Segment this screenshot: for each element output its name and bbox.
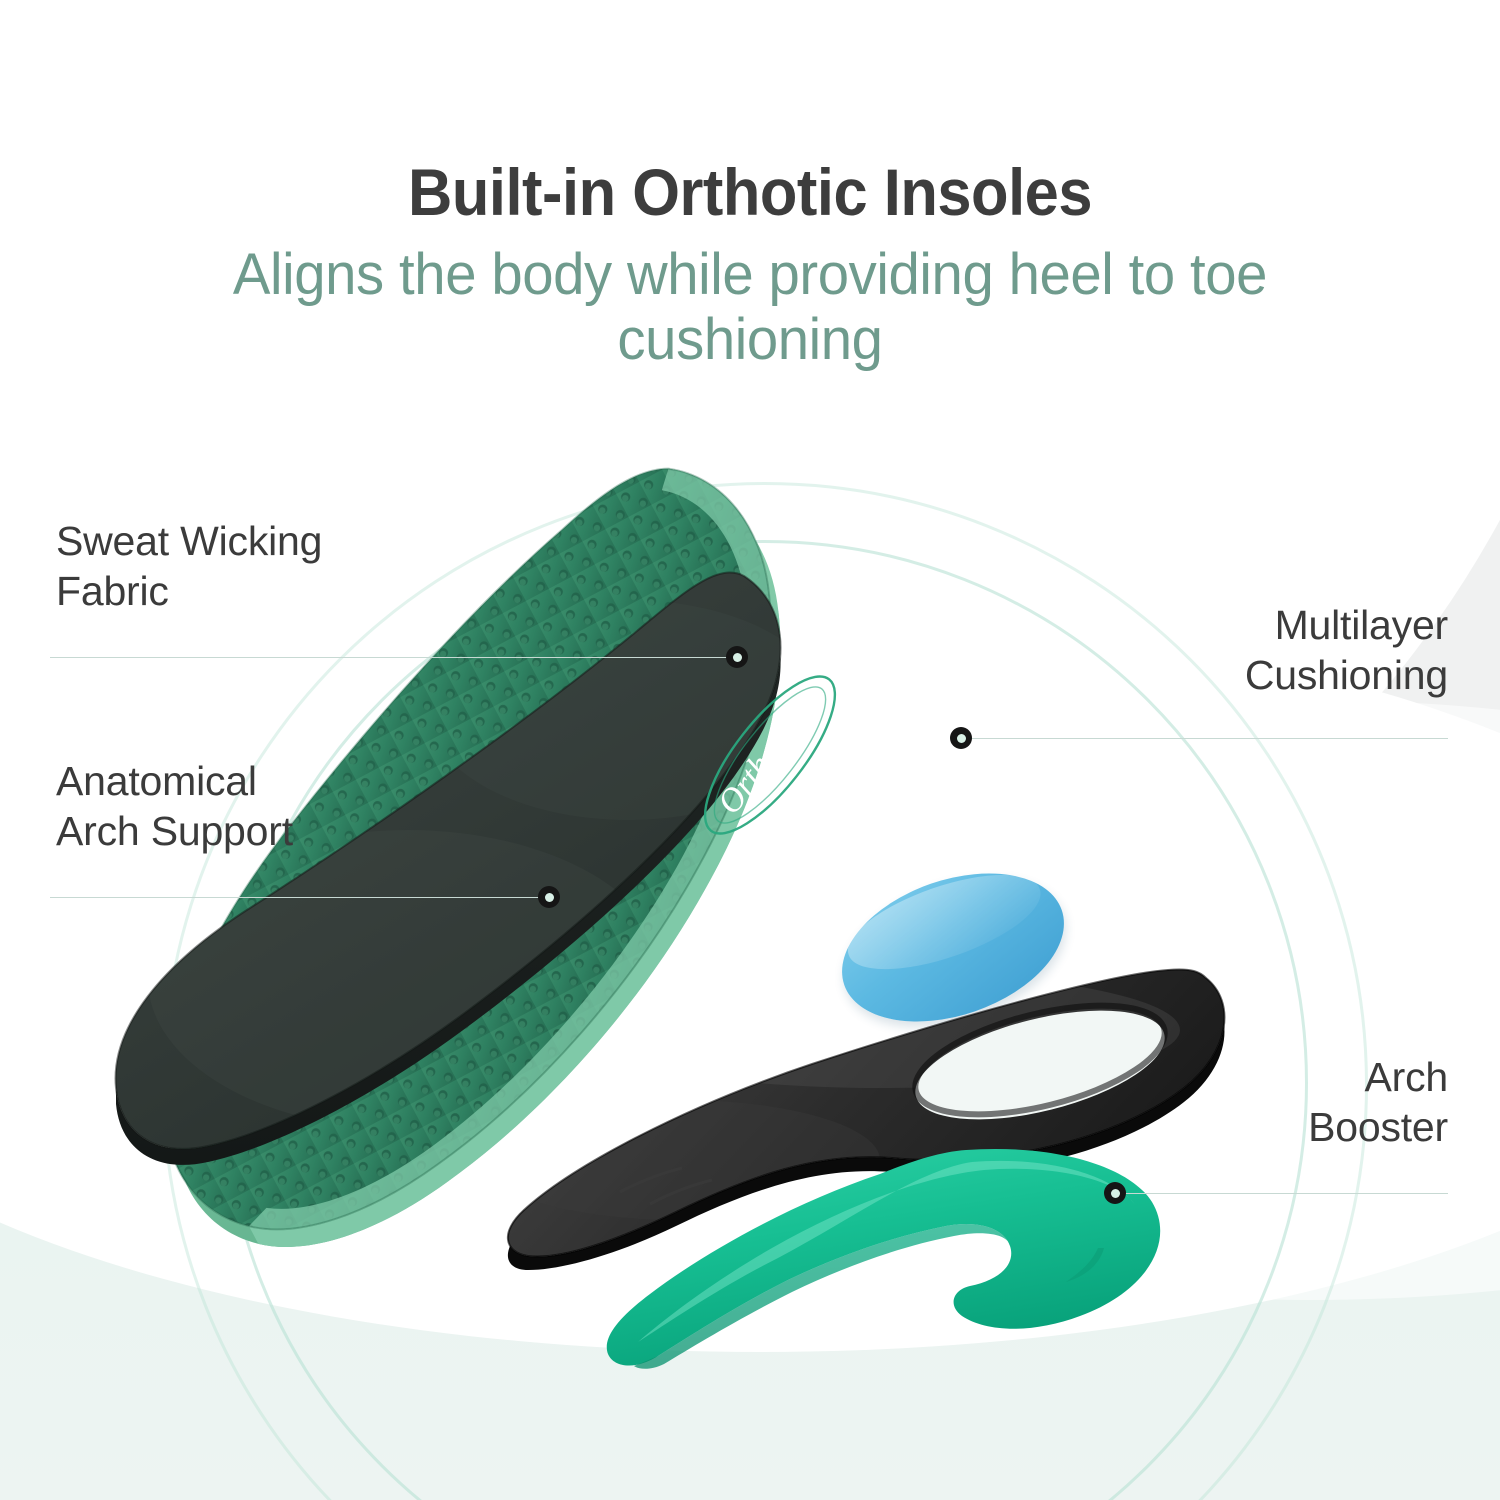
hotspot-dot-anatomical-arch-support[interactable] <box>538 886 560 908</box>
callout-multilayer-cushioning: Multilayer Cushioning <box>978 600 1448 700</box>
page-subtitle: Aligns the body while providing heel to … <box>187 243 1312 373</box>
hotspot-dot-multilayer-cushioning[interactable] <box>950 727 972 749</box>
callout-sweat-wicking-fabric: Sweat Wicking Fabric <box>56 516 526 616</box>
callout-label-sweat-wicking-fabric: Sweat Wicking Fabric <box>56 516 526 616</box>
callout-label-arch-booster: Arch Booster <box>978 1052 1448 1152</box>
page-title: Built-in Orthotic Insoles <box>53 158 1448 227</box>
callout-label-anatomical-arch-support: Anatomical Arch Support <box>56 756 526 856</box>
leader-line-anatomical-arch-support <box>50 897 550 898</box>
header-block: Built-in Orthotic Insoles Aligns the bod… <box>0 158 1500 373</box>
callout-label-multilayer-cushioning: Multilayer Cushioning <box>978 600 1448 700</box>
leader-line-sweat-wicking-fabric <box>50 657 736 658</box>
callout-arch-booster: Arch Booster <box>978 1052 1448 1152</box>
leader-line-arch-booster <box>1122 1193 1448 1194</box>
hotspot-dot-arch-booster[interactable] <box>1104 1182 1126 1204</box>
hotspot-dot-sweat-wicking-fabric[interactable] <box>726 646 748 668</box>
arch-booster-graphic <box>580 1140 1180 1370</box>
leader-line-multilayer-cushioning <box>968 738 1448 739</box>
product-infographic: Built-in Orthotic Insoles Aligns the bod… <box>0 0 1500 1500</box>
callout-anatomical-arch-support: Anatomical Arch Support <box>56 756 526 856</box>
